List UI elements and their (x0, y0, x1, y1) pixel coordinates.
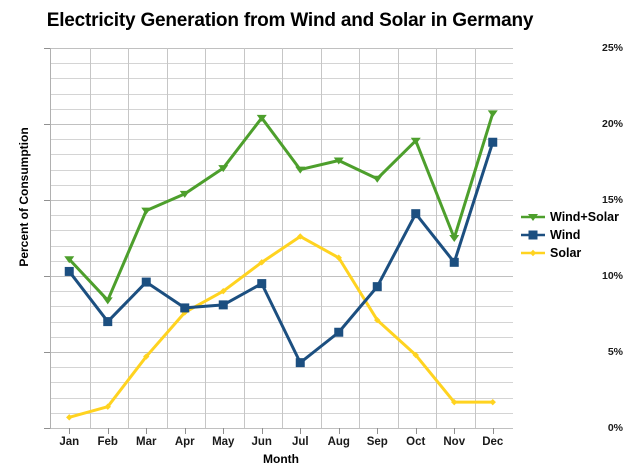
legend-item[interactable]: Wind (520, 226, 620, 244)
gridline-vertical (128, 48, 129, 428)
x-tick-mark (185, 428, 186, 434)
y-tick-label: 15% (583, 194, 623, 206)
x-tick-mark (454, 428, 455, 434)
legend-item[interactable]: Wind+Solar (520, 208, 620, 226)
gridline-vertical (244, 48, 245, 428)
y-axis-title: Percent of Consumption (17, 77, 31, 317)
x-tick-mark (223, 428, 224, 434)
gridline-vertical (167, 48, 168, 428)
x-tick-mark (262, 428, 263, 434)
gridline-horizontal (51, 428, 513, 429)
x-tick-label: Dec (463, 436, 523, 448)
y-tick-label: 0% (583, 422, 623, 434)
plot-area (50, 48, 513, 429)
legend-swatch-icon (520, 228, 546, 242)
gridline-vertical (282, 48, 283, 428)
x-tick-mark (300, 428, 301, 434)
gridline-vertical (90, 48, 91, 428)
gridline-vertical (475, 48, 476, 428)
gridline-vertical (321, 48, 322, 428)
x-tick-mark (416, 428, 417, 434)
y-tick-mark (44, 48, 50, 49)
legend-item-label: Wind (550, 228, 580, 242)
chart-title: Electricity Generation from Wind and Sol… (0, 10, 580, 32)
legend-swatch-icon (520, 246, 546, 260)
gridline-vertical (205, 48, 206, 428)
x-axis-title: Month (50, 452, 512, 466)
chart-legend: Wind+SolarWindSolar (520, 208, 620, 262)
y-tick-label: 10% (583, 270, 623, 282)
legend-swatch-icon (520, 210, 546, 224)
legend-item[interactable]: Solar (520, 244, 620, 262)
data-point-marker (529, 231, 538, 240)
x-tick-mark (69, 428, 70, 434)
gridline-vertical (436, 48, 437, 428)
x-tick-mark (146, 428, 147, 434)
x-tick-mark (377, 428, 378, 434)
y-tick-label: 5% (583, 346, 623, 358)
gridline-vertical (398, 48, 399, 428)
x-tick-mark (108, 428, 109, 434)
chart-container: Electricity Generation from Wind and Sol… (0, 0, 623, 467)
data-point-marker (530, 250, 536, 256)
y-tick-label: 20% (583, 118, 623, 130)
x-tick-mark (493, 428, 494, 434)
legend-item-label: Wind+Solar (550, 210, 619, 224)
y-tick-mark (44, 124, 50, 125)
y-tick-mark (44, 200, 50, 201)
legend-item-label: Solar (550, 246, 581, 260)
gridline-vertical (359, 48, 360, 428)
y-tick-mark (44, 428, 50, 429)
y-tick-label: 25% (583, 42, 623, 54)
x-tick-mark (339, 428, 340, 434)
y-tick-mark (44, 352, 50, 353)
y-tick-mark (44, 276, 50, 277)
